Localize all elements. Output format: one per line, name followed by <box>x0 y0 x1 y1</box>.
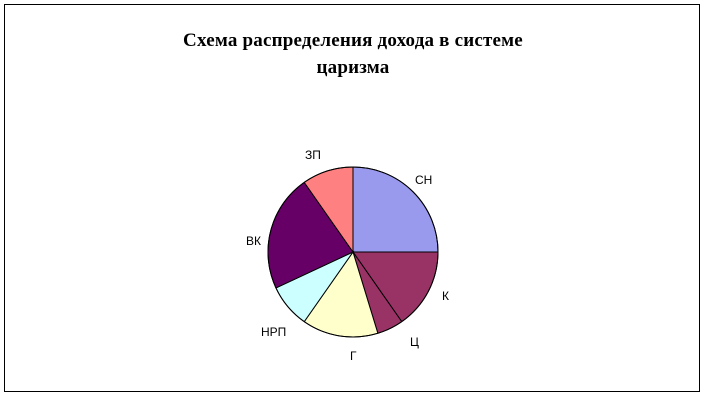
chart-frame: Схема распределения дохода в системе цар… <box>4 4 700 392</box>
pie-label-vk: ВК <box>246 235 261 248</box>
pie-chart-plot-area: СН К Ц Г НРП ВК ЗП <box>5 5 701 393</box>
pie-label-g: Г <box>350 350 357 363</box>
pie-label-k: К <box>442 290 449 303</box>
pie-label-sn: СН <box>415 174 432 187</box>
pie-chart-svg <box>5 5 701 393</box>
pie-label-ts: Ц <box>410 336 419 349</box>
pie-label-zp: ЗП <box>305 149 321 162</box>
pie-slices-group <box>268 167 438 337</box>
pie-label-nrp: НРП <box>261 326 286 339</box>
screenshot-root: Схема распределения дохода в системе цар… <box>0 0 706 411</box>
